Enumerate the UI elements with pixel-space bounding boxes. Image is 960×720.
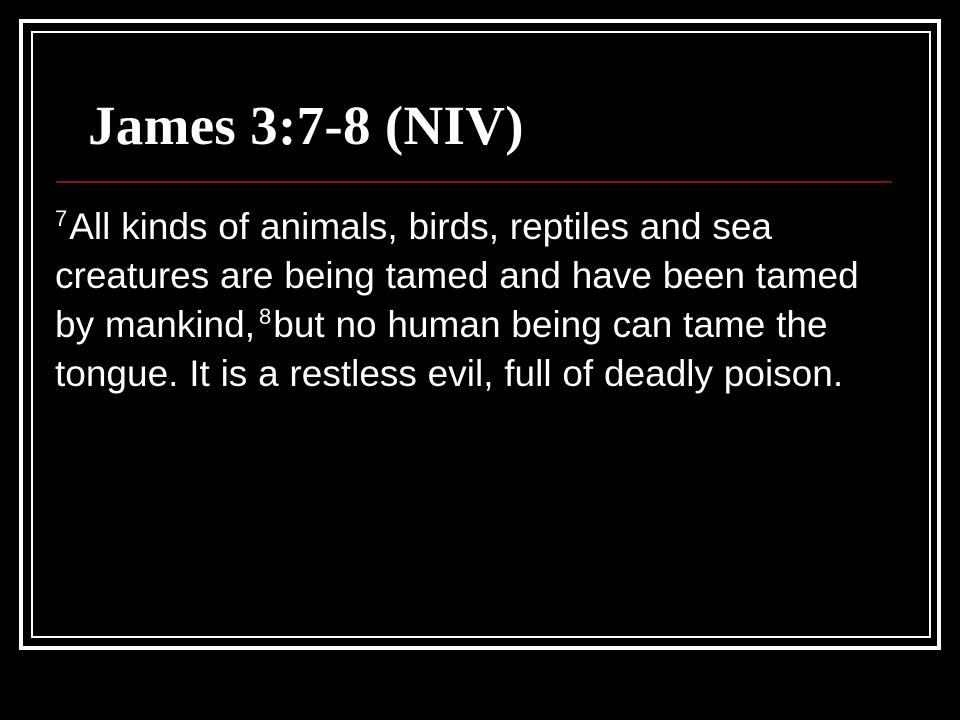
page-title: James 3:7-8 (NIV): [88, 96, 524, 156]
verse-number-7: 7: [55, 206, 69, 231]
verse-number-8: 8: [255, 304, 273, 329]
scripture-slide: James 3:7-8 (NIV) 7All kinds of animals,…: [0, 0, 960, 720]
scripture-body-text: 7All kinds of animals, birds, reptiles a…: [55, 202, 907, 398]
slide-content: James 3:7-8 (NIV) 7All kinds of animals,…: [46, 46, 916, 624]
title-divider-rule: [56, 181, 892, 183]
